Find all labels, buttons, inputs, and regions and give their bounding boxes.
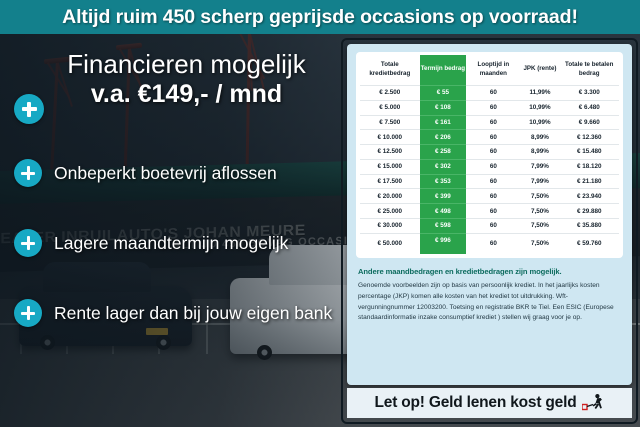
- cell-looptijd: 60: [466, 219, 520, 234]
- cell-totaal: € 21.180: [559, 174, 619, 189]
- table-row: € 12.500 € 258 60 8,99% € 15.480: [360, 145, 619, 160]
- cell-termijn: € 598: [420, 219, 467, 234]
- cell-jkp: 7,50%: [521, 204, 560, 219]
- benefit-item-2: Lagere maandtermijn mogelijk: [14, 223, 337, 263]
- cell-termijn: € 353: [420, 174, 467, 189]
- cell-looptijd: 60: [466, 189, 520, 204]
- cell-jkp: 7,50%: [521, 233, 560, 254]
- cell-termijn: € 161: [420, 115, 467, 130]
- cell-termijn: € 498: [420, 204, 467, 219]
- table-row: € 10.000 € 206 60 8,99% € 12.360: [360, 130, 619, 145]
- benefit-item-3: Rente lager dan bij jouw eigen bank: [14, 293, 337, 333]
- benefit-item-2-label: Lagere maandtermijn mogelijk: [54, 233, 288, 254]
- benefits-panel: Financieren mogelijk v.a. €149,- / mnd O…: [0, 34, 345, 427]
- plus-circle-icon: [14, 299, 42, 327]
- cell-termijn: € 206: [420, 130, 467, 145]
- cell-termijn: € 108: [420, 100, 467, 115]
- cell-krediet: € 2.500: [360, 85, 420, 100]
- disclaimer-title: Andere maandbedragen en kredietbedragen …: [358, 267, 621, 276]
- cell-jkp: 7,99%: [521, 159, 560, 174]
- disclaimer-body: Genoemde voorbeelden zijn op basis van p…: [358, 281, 621, 324]
- cell-totaal: € 35.880: [559, 219, 619, 234]
- cell-totaal: € 9.660: [559, 115, 619, 130]
- cell-termijn: € 258: [420, 145, 467, 160]
- benefit-item-1: Onbeperkt boetevrij aflossen: [14, 153, 337, 193]
- cell-krediet: € 5.000: [360, 100, 420, 115]
- cell-totaal: € 15.480: [559, 145, 619, 160]
- cell-jkp: 10,99%: [521, 100, 560, 115]
- benefit-item-3-label: Rente lager dan bij jouw eigen bank: [54, 303, 332, 324]
- cell-jkp: 8,99%: [521, 145, 560, 160]
- cell-termijn: € 996: [420, 233, 467, 254]
- table-header-row: Totale kredietbedrag Termijn bedrag Loop…: [360, 55, 619, 85]
- cell-jkp: 7,50%: [521, 219, 560, 234]
- cell-krediet: € 50.000: [360, 233, 420, 254]
- cell-jkp: 7,99%: [521, 174, 560, 189]
- plus-circle-icon-headline: [14, 94, 44, 124]
- banner-root: DEALER INRUILAUTO'S JOHAN MEURE ALTIJD 4…: [0, 0, 640, 427]
- table-row: € 17.500 € 353 60 7,99% € 21.180: [360, 174, 619, 189]
- cell-termijn: € 302: [420, 159, 467, 174]
- cell-looptijd: 60: [466, 204, 520, 219]
- afm-walking-man-icon: [582, 393, 604, 413]
- cell-looptijd: 60: [466, 115, 520, 130]
- cell-termijn: € 55: [420, 85, 467, 100]
- plus-circle-icon: [14, 229, 42, 257]
- disclaimer-block: Andere maandbedragen en kredietbedragen …: [356, 267, 623, 324]
- cell-looptijd: 60: [466, 159, 520, 174]
- cell-jkp: 8,99%: [521, 130, 560, 145]
- table-row: € 15.000 € 302 60 7,99% € 18.120: [360, 159, 619, 174]
- cell-krediet: € 12.500: [360, 145, 420, 160]
- rate-table-container: Totale kredietbedrag Termijn bedrag Loop…: [356, 52, 623, 258]
- finance-headline-line2: v.a. €149,- / mnd: [36, 79, 337, 109]
- header-totale-te-betalen: Totale te betalen bedrag: [559, 55, 619, 85]
- cell-jkp: 7,50%: [521, 189, 560, 204]
- table-row: € 7.500 € 161 60 10,99% € 9.660: [360, 115, 619, 130]
- cell-krediet: € 20.000: [360, 189, 420, 204]
- table-row: € 50.000 € 996 60 7,50% € 59.760: [360, 233, 619, 254]
- rate-table: Totale kredietbedrag Termijn bedrag Loop…: [360, 55, 619, 254]
- cell-looptijd: 60: [466, 100, 520, 115]
- cell-totaal: € 23.940: [559, 189, 619, 204]
- table-row: € 20.000 € 399 60 7,50% € 23.940: [360, 189, 619, 204]
- cell-jkp: 10,99%: [521, 115, 560, 130]
- cell-totaal: € 29.880: [559, 204, 619, 219]
- cell-totaal: € 6.480: [559, 100, 619, 115]
- cell-krediet: € 25.000: [360, 204, 420, 219]
- rate-table-body: € 2.500 € 55 60 11,99% € 3.300 € 5.000 €…: [360, 85, 619, 254]
- finance-info-card: Totale kredietbedrag Termijn bedrag Loop…: [347, 44, 632, 385]
- cell-totaal: € 59.760: [559, 233, 619, 254]
- cell-totaal: € 3.300: [559, 85, 619, 100]
- benefit-item-1-label: Onbeperkt boetevrij aflossen: [54, 163, 277, 184]
- finance-headline-line1: Financieren mogelijk: [36, 50, 337, 79]
- table-row: € 25.000 € 498 60 7,50% € 29.880: [360, 204, 619, 219]
- cell-krediet: € 17.500: [360, 174, 420, 189]
- cell-looptijd: 60: [466, 233, 520, 254]
- cell-krediet: € 30.000: [360, 219, 420, 234]
- header-termijn-bedrag: Termijn bedrag: [420, 55, 467, 85]
- table-row: € 5.000 € 108 60 10,99% € 6.480: [360, 100, 619, 115]
- cell-looptijd: 60: [466, 145, 520, 160]
- cell-krediet: € 10.000: [360, 130, 420, 145]
- cell-looptijd: 60: [466, 85, 520, 100]
- table-row: € 2.500 € 55 60 11,99% € 3.300: [360, 85, 619, 100]
- cell-krediet: € 7.500: [360, 115, 420, 130]
- header-jkp: JPK (rente): [521, 55, 560, 85]
- credit-warning-bar: Let op! Geld lenen kost geld: [347, 388, 632, 418]
- cell-jkp: 11,99%: [521, 85, 560, 100]
- plus-circle-icon: [14, 159, 42, 187]
- cell-totaal: € 12.360: [559, 130, 619, 145]
- finance-headline: Financieren mogelijk v.a. €149,- / mnd: [36, 50, 337, 109]
- cell-looptijd: 60: [466, 130, 520, 145]
- header-looptijd: Looptijd in maanden: [466, 55, 520, 85]
- top-promo-banner: Altijd ruim 450 scherp geprijsde occasio…: [0, 0, 640, 34]
- credit-warning-text: Let op! Geld lenen kost geld: [375, 394, 577, 412]
- cell-termijn: € 399: [420, 189, 467, 204]
- top-promo-text: Altijd ruim 450 scherp geprijsde occasio…: [0, 6, 640, 29]
- table-row: € 30.000 € 598 60 7,50% € 35.880: [360, 219, 619, 234]
- cell-krediet: € 15.000: [360, 159, 420, 174]
- header-totale-kredietbedrag: Totale kredietbedrag: [360, 55, 420, 85]
- cell-looptijd: 60: [466, 174, 520, 189]
- cell-totaal: € 18.120: [559, 159, 619, 174]
